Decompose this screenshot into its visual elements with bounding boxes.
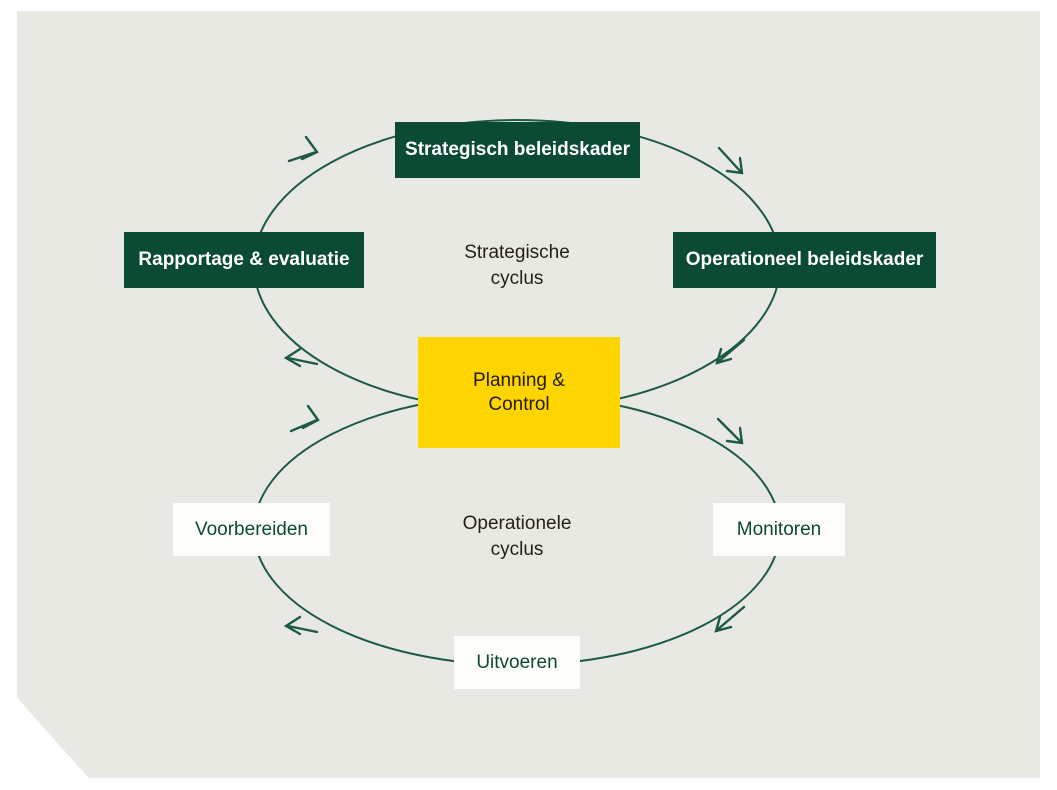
node-label-line2: Control: [473, 393, 565, 416]
label-operationele-cyclus: Operationele cyclus: [397, 511, 637, 563]
node-label: Rapportage & evaluatie: [138, 248, 349, 271]
node-planning-control[interactable]: Planning & Control: [418, 337, 620, 448]
cycle-label-line1: Operationele: [397, 511, 637, 537]
node-uitvoeren[interactable]: Uitvoeren: [454, 636, 580, 689]
node-label: Uitvoeren: [476, 651, 557, 674]
node-label-wrap: Planning & Control: [473, 369, 565, 415]
node-operationeel-beleidskader[interactable]: Operationeel beleidskader: [673, 232, 936, 288]
node-monitoren[interactable]: Monitoren: [713, 503, 845, 556]
node-label: Voorbereiden: [195, 518, 308, 541]
node-label: Operationeel beleidskader: [686, 248, 924, 271]
node-rapportage-evaluatie[interactable]: Rapportage & evaluatie: [124, 232, 364, 288]
screenshot-root: Strategisch beleidskader Operationeel be…: [0, 0, 1057, 790]
cycle-label-line2: cyclus: [397, 537, 637, 563]
node-label: Monitoren: [737, 518, 822, 541]
node-label: Strategisch beleidskader: [405, 138, 630, 161]
node-strategisch-beleidskader[interactable]: Strategisch beleidskader: [395, 122, 640, 178]
label-strategische-cyclus: Strategische cyclus: [397, 240, 637, 292]
node-voorbereiden[interactable]: Voorbereiden: [173, 503, 330, 556]
cycle-label-line1: Strategische: [397, 240, 637, 266]
cycle-label-line2: cyclus: [397, 266, 637, 292]
node-label-line1: Planning &: [473, 369, 565, 392]
